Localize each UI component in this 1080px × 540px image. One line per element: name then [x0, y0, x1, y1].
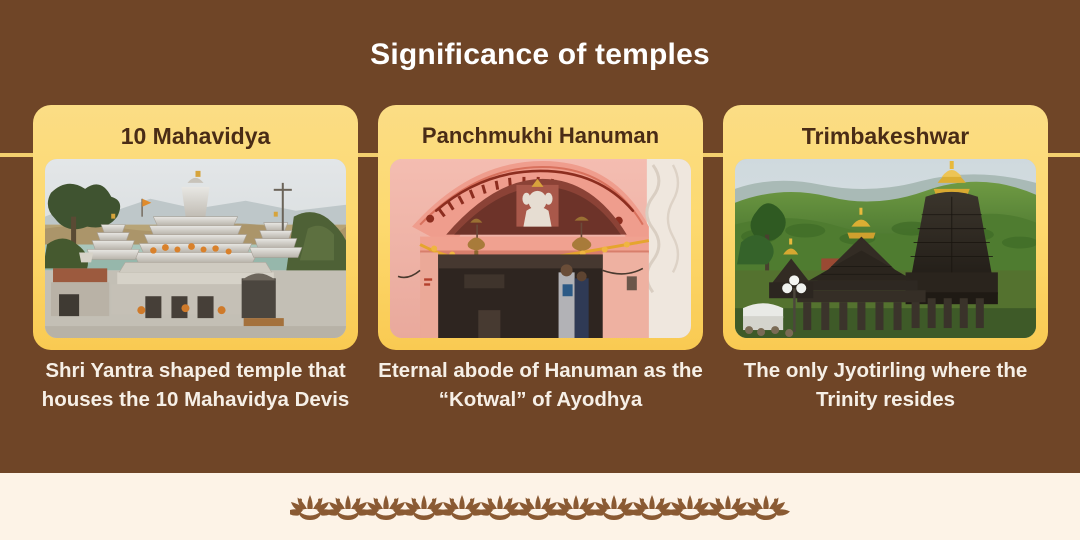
temple-card-trimbakeshwar[interactable]: Trimbakeshwar — [723, 105, 1048, 350]
caption-panchmukhi-hanuman: Eternal abode of Hanuman as the “Kotwal”… — [378, 356, 703, 414]
temple-card-panchmukhi-hanuman[interactable]: Panchmukhi Hanuman — [378, 105, 703, 350]
temple-card-row: 10 Mahavidya — [33, 105, 1048, 350]
caption-10-mahavidya: Shri Yantra shaped temple that houses th… — [33, 356, 358, 414]
accent-rail-right — [1048, 153, 1080, 157]
temple-photo-10-mahavidya — [45, 159, 346, 338]
temple-card-10-mahavidya[interactable]: 10 Mahavidya — [33, 105, 358, 350]
caption-row: Shri Yantra shaped temple that houses th… — [33, 356, 1048, 414]
card-title: 10 Mahavidya — [41, 113, 350, 159]
page-title: Significance of temples — [0, 38, 1080, 72]
footer-band — [0, 473, 1080, 540]
card-title: Trimbakeshwar — [731, 113, 1040, 159]
temple-photo-trimbakeshwar — [735, 159, 1036, 338]
lotus-border-ornament — [0, 487, 1080, 527]
accent-rail-left — [0, 153, 33, 157]
card-title: Panchmukhi Hanuman — [386, 113, 695, 159]
caption-trimbakeshwar: The only Jyotirling where the Trinity re… — [723, 356, 1048, 414]
slide-canvas: Significance of temples 10 Mahavidya — [0, 0, 1080, 540]
temple-photo-panchmukhi-hanuman — [390, 159, 691, 338]
